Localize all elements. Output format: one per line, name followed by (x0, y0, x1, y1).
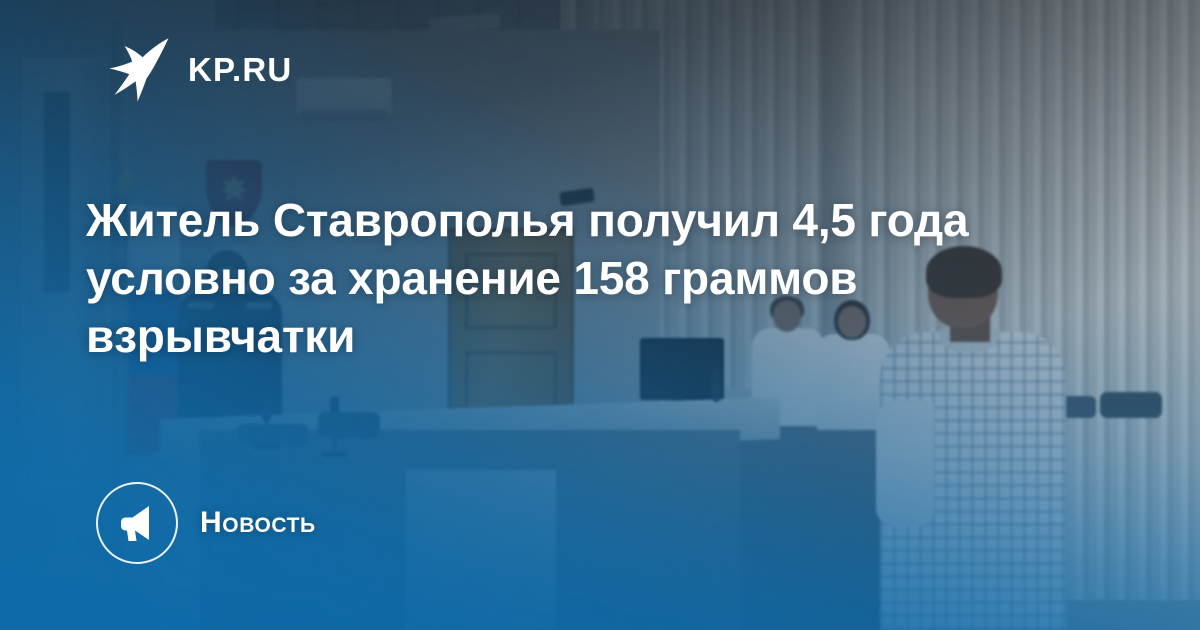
megaphone-icon (115, 501, 159, 545)
brand-name: KP.RU (188, 53, 292, 86)
card-content: KP.RU Житель Ставрополья получил 4,5 год… (0, 0, 1200, 630)
page-title: Житель Ставрополья получил 4,5 года усло… (86, 192, 1086, 366)
badge-label: Новость (200, 508, 316, 538)
swallow-bird-icon (108, 36, 170, 102)
news-share-card: KP.RU Житель Ставрополья получил 4,5 год… (0, 0, 1200, 630)
badge-icon-circle (96, 482, 178, 564)
brand-logo[interactable]: KP.RU (108, 36, 292, 102)
status-badge[interactable]: Новость (96, 482, 316, 564)
